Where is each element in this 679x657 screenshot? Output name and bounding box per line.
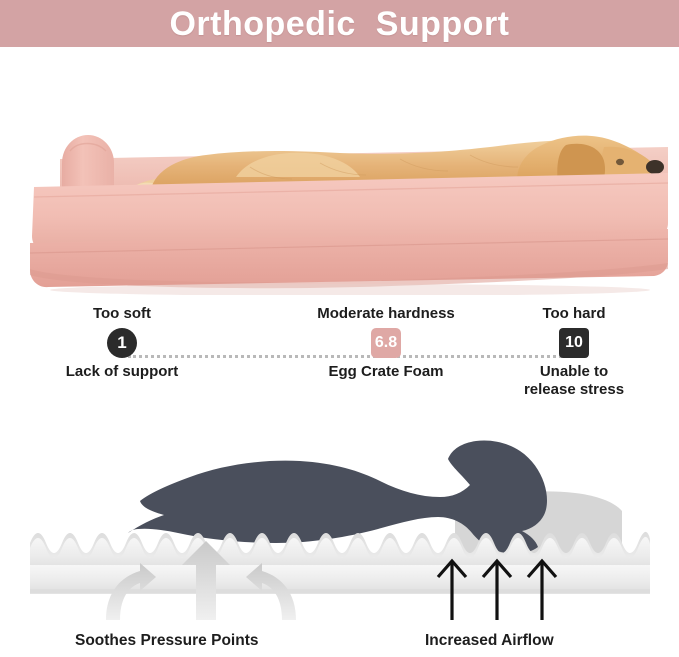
caption-soothes-pressure-points: Soothes Pressure Points (75, 632, 258, 650)
scale-stop-top-label: Too soft (22, 305, 222, 323)
scale-stop-moderate: Moderate hardness 6.8 Egg Crate Foam (286, 305, 486, 381)
scale-badge-6-8: 6.8 (371, 328, 401, 358)
scale-stop-too-hard: Too hard 10 Unable to release stress (474, 305, 674, 399)
hardness-scale: Too soft 1 Lack of support Moderate hard… (0, 305, 679, 415)
dog-bed-photo-illustration (0, 47, 679, 295)
scale-stop-too-soft: Too soft 1 Lack of support (22, 305, 222, 381)
header-banner: Orthopedic Support (0, 0, 679, 47)
foam-cutaway-diagram (0, 415, 679, 620)
scale-stop-bottom-label: Egg Crate Foam (286, 363, 486, 381)
page-title: Orthopedic Support (169, 7, 509, 41)
scale-badge-1: 1 (107, 328, 137, 358)
scale-stop-top-label: Too hard (474, 305, 674, 323)
diagram-captions: Soothes Pressure Points Increased Airflo… (0, 632, 679, 657)
product-photo (0, 47, 679, 295)
scale-stop-bottom-label: Unable to release stress (474, 363, 674, 399)
scale-stop-top-label: Moderate hardness (286, 305, 486, 323)
scale-badge-10: 10 (559, 328, 589, 358)
caption-increased-airflow: Increased Airflow (425, 632, 554, 650)
scale-stop-bottom-label: Lack of support (22, 363, 222, 381)
